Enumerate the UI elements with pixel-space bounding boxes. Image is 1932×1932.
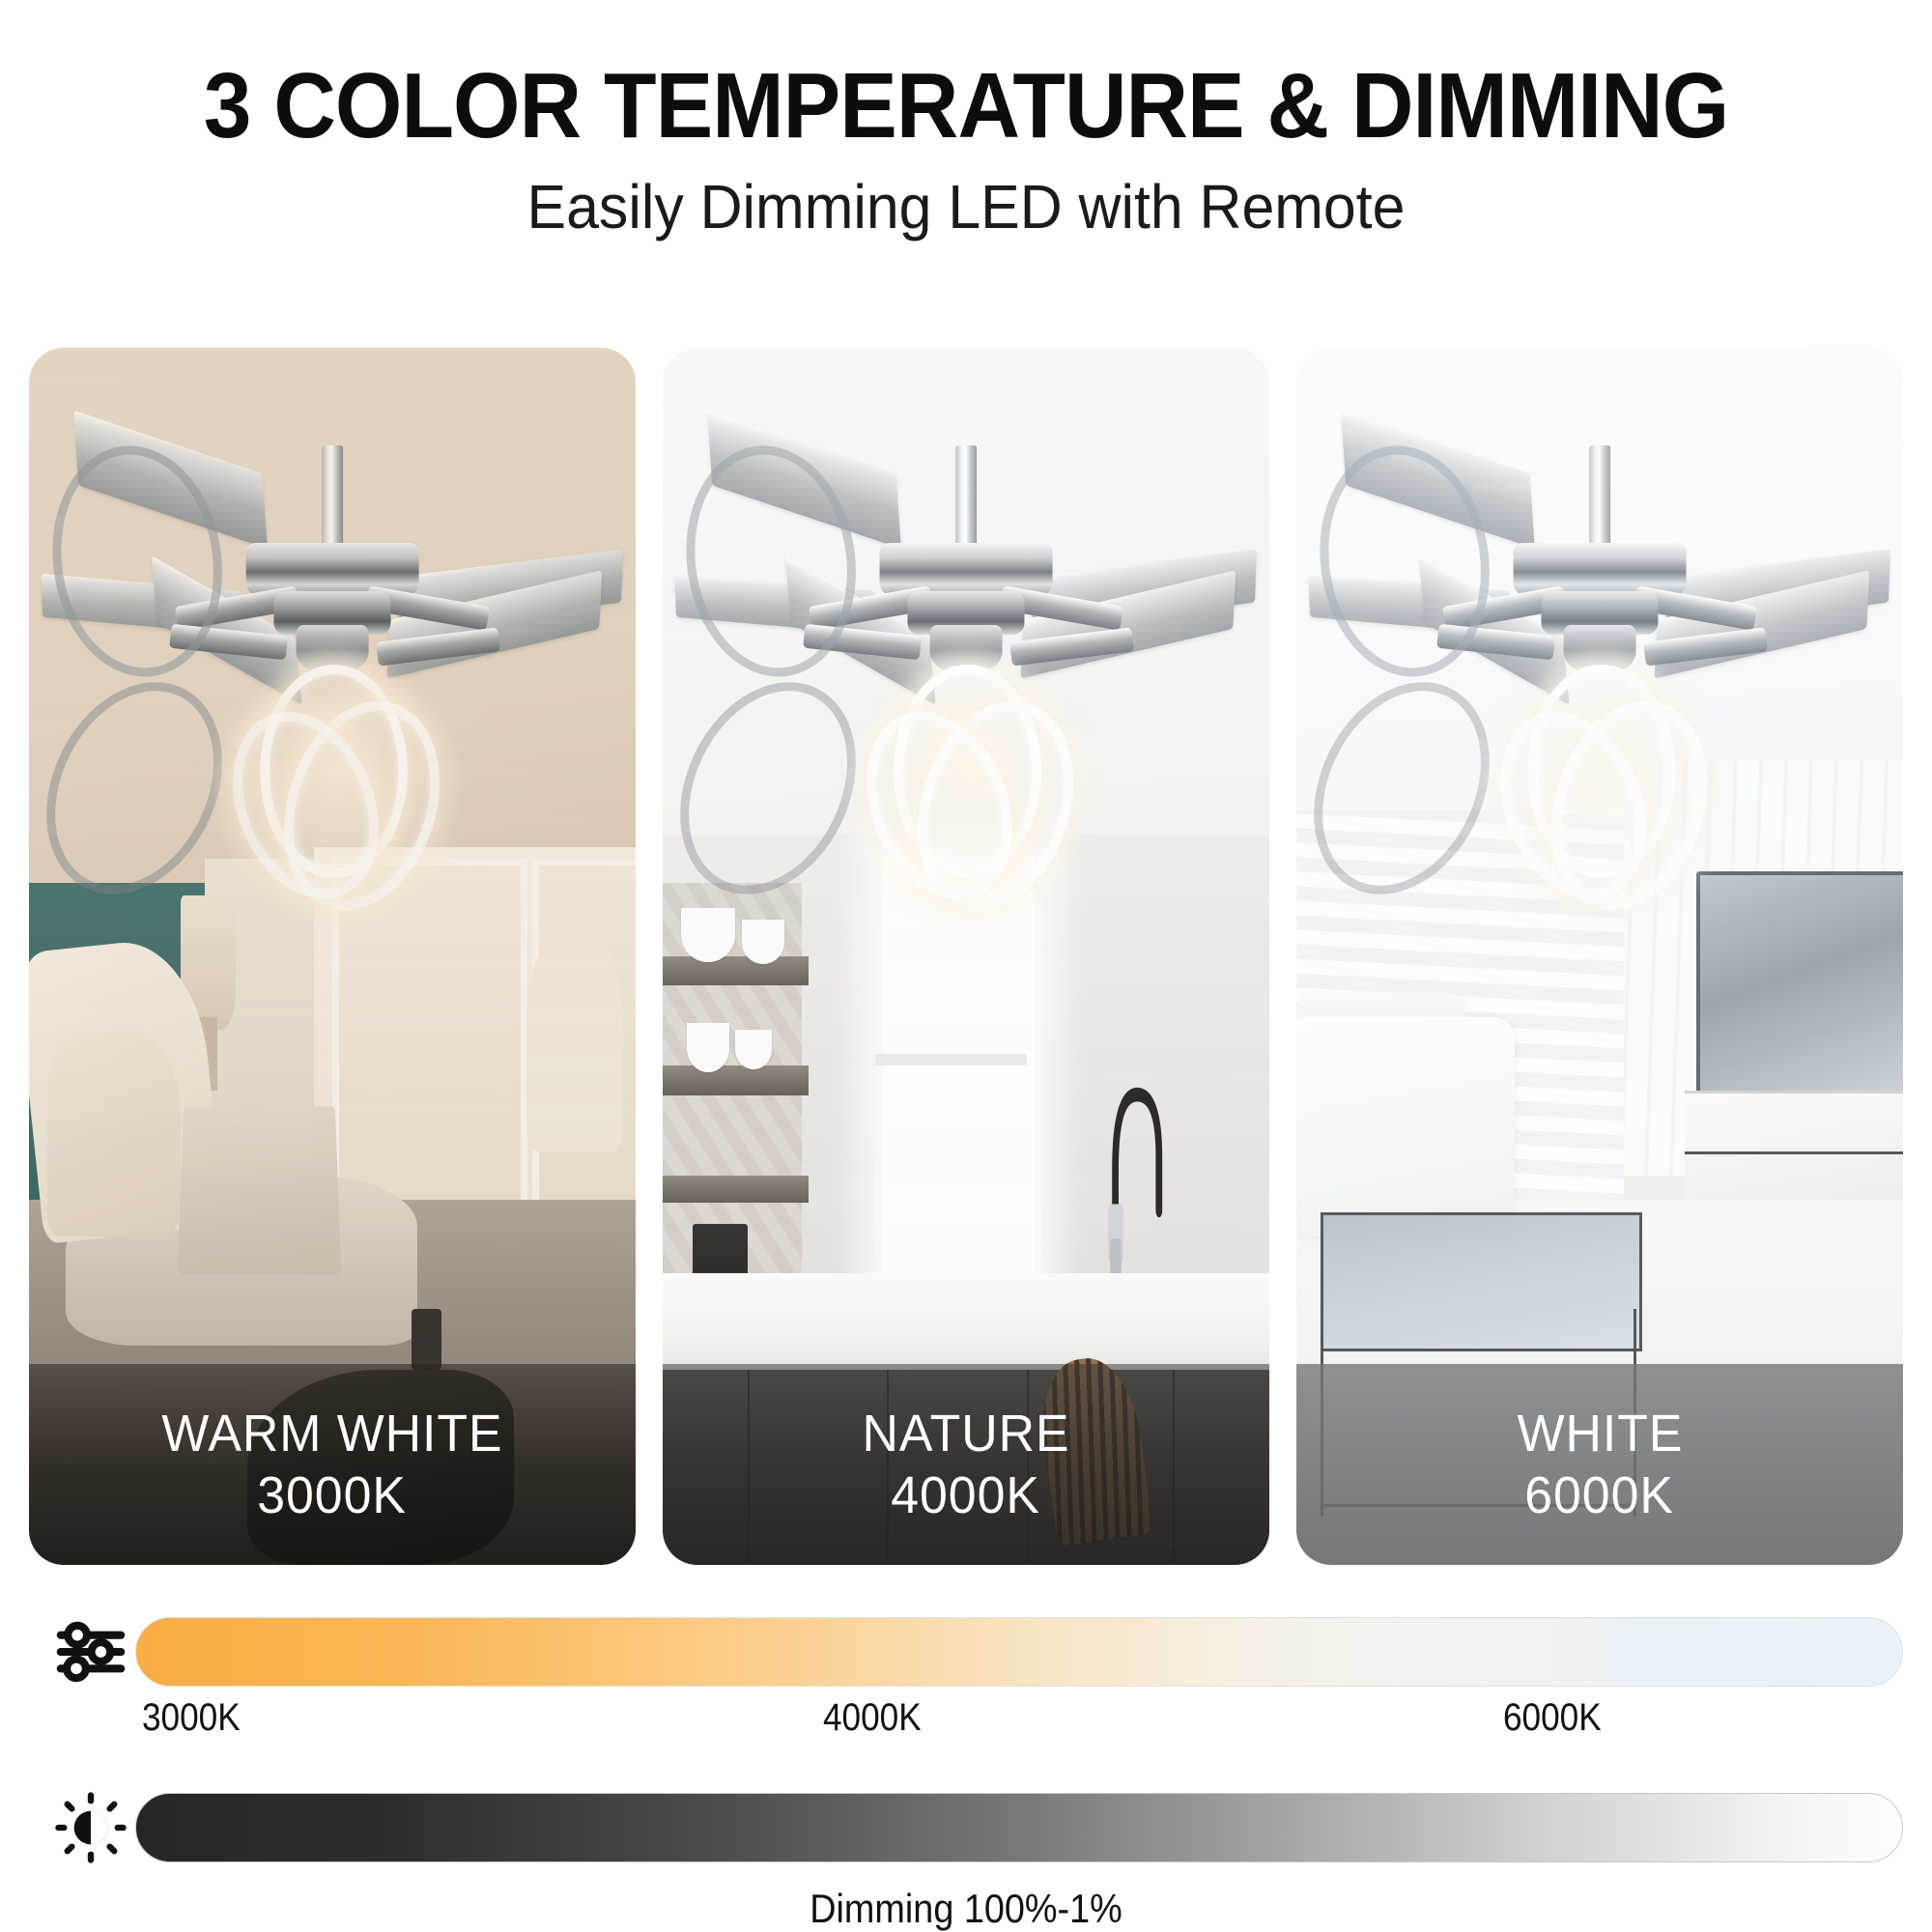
- downrod: [955, 445, 977, 553]
- dimming-bar[interactable]: [135, 1793, 1903, 1862]
- sliders-icon: [46, 1607, 135, 1696]
- white-chair: [526, 932, 623, 1151]
- cct-tick-row: 3000K 4000K 6000K: [135, 1696, 1903, 1752]
- cct-slider-row[interactable]: [0, 1607, 1932, 1696]
- laptop: [178, 1106, 342, 1275]
- caption-title: WHITE: [1517, 1405, 1683, 1463]
- fan-motor-housing: [245, 543, 418, 596]
- downrod: [1589, 445, 1610, 553]
- ceiling-fan-warm: [53, 445, 611, 932]
- downrod: [322, 445, 343, 553]
- ceiling-fan-white: [1321, 445, 1879, 932]
- glass-coffee-table: [1321, 1212, 1642, 1352]
- caption-kelvin: 4000K: [892, 1466, 1041, 1524]
- caption-white: WHITE 6000K: [1296, 1364, 1903, 1565]
- brightness-icon: [46, 1783, 135, 1872]
- caption-warm-white: WARM WHITE 3000K: [29, 1364, 636, 1565]
- open-shelf: [663, 1176, 809, 1203]
- scene-panels: WARM WHITE 3000K: [29, 348, 1903, 1565]
- dimming-range-label: Dimming 100%-1%: [97, 1886, 1835, 1932]
- header: 3 COLOR TEMPERATURE & DIMMING Easily Dim…: [0, 0, 1932, 241]
- panel-white[interactable]: WHITE 6000K: [1296, 348, 1903, 1565]
- gooseneck-faucet: [1099, 1054, 1172, 1273]
- caption-kelvin: 6000K: [1525, 1466, 1675, 1524]
- caption-title: WARM WHITE: [161, 1405, 502, 1463]
- fan-motor-housing: [1513, 543, 1686, 596]
- pillow-small: [47, 1030, 181, 1236]
- chrome-ring: [29, 652, 256, 923]
- cct-tick-4000k: 4000K: [822, 1696, 921, 1740]
- chrome-ring: [1296, 652, 1523, 923]
- panel-nature[interactable]: NATURE 4000K: [663, 348, 1269, 1565]
- camera: [412, 1309, 441, 1370]
- ceiling-fan-nature: [687, 445, 1245, 932]
- open-shelf: [663, 1065, 809, 1094]
- page-title: 3 COLOR TEMPERATURE & DIMMING: [68, 58, 1864, 156]
- console-seam: [1685, 1151, 1903, 1154]
- caption-nature: NATURE 4000K: [663, 1364, 1269, 1565]
- cct-tick-3000k: 3000K: [142, 1696, 241, 1740]
- caption-title: NATURE: [862, 1405, 1069, 1463]
- caption-kelvin: 3000K: [258, 1466, 408, 1524]
- cct-slider-block: 3000K 4000K 6000K: [0, 1607, 1932, 1752]
- color-temperature-bar[interactable]: [135, 1617, 1903, 1687]
- dimming-slider-row[interactable]: [0, 1783, 1932, 1872]
- cct-tick-6000k: 6000K: [1503, 1696, 1602, 1740]
- chrome-ring: [663, 652, 890, 923]
- dimming-slider-block: Dimming 100%-1%: [0, 1783, 1932, 1932]
- open-shelf: [663, 956, 809, 985]
- white-sofa: [1296, 1017, 1515, 1236]
- white-bowl: [687, 1023, 729, 1071]
- window-sash: [875, 1054, 1027, 1066]
- page-subtitle: Easily Dimming LED with Remote: [48, 173, 1884, 241]
- white-bowl: [735, 1030, 772, 1070]
- panel-warm-white[interactable]: WARM WHITE 3000K: [29, 348, 636, 1565]
- fan-motor-housing: [879, 543, 1052, 596]
